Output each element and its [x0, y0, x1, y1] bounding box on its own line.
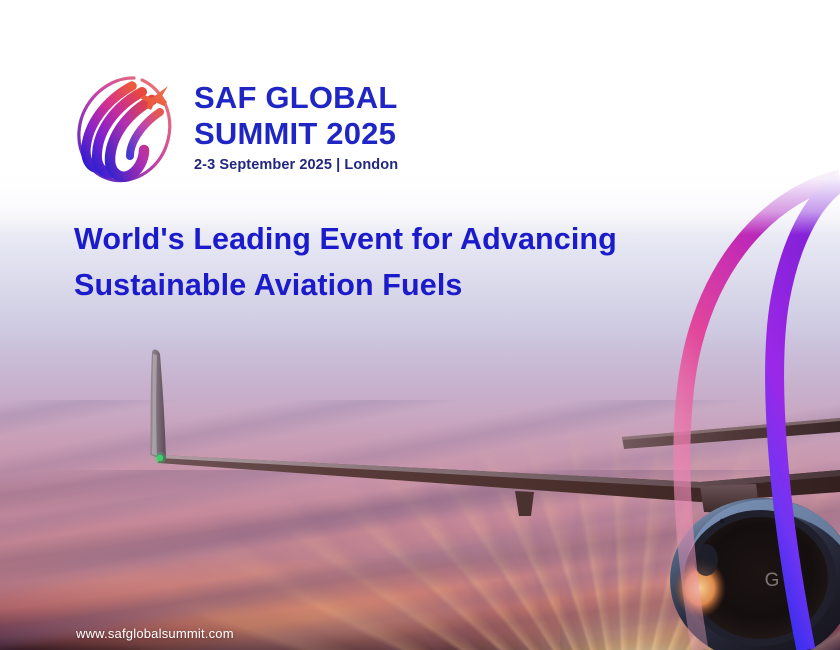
logo-block[interactable]: SAF GLOBAL SUMMIT 2025 2-3 September 202… — [68, 68, 398, 186]
page-title: World's Leading Event for Advancing Sust… — [74, 216, 734, 309]
headline-line-1: World's Leading Event for Advancing — [74, 222, 617, 256]
logo-title-line1: SAF GLOBAL — [194, 82, 398, 113]
logo-subtitle: 2-3 September 2025 | London — [194, 158, 398, 173]
saf-globe-swoosh-logo — [68, 68, 180, 186]
website-url[interactable]: www.safglobalsummit.com — [76, 626, 234, 641]
brand-arc-purple — [775, 182, 840, 650]
logo-text-block: SAF GLOBAL SUMMIT 2025 2-3 September 202… — [194, 82, 398, 173]
headline-line-2: Sustainable Aviation Fuels — [74, 262, 734, 308]
logo-title-line2: SUMMIT 2025 — [194, 118, 398, 149]
event-banner: G — [0, 0, 840, 650]
